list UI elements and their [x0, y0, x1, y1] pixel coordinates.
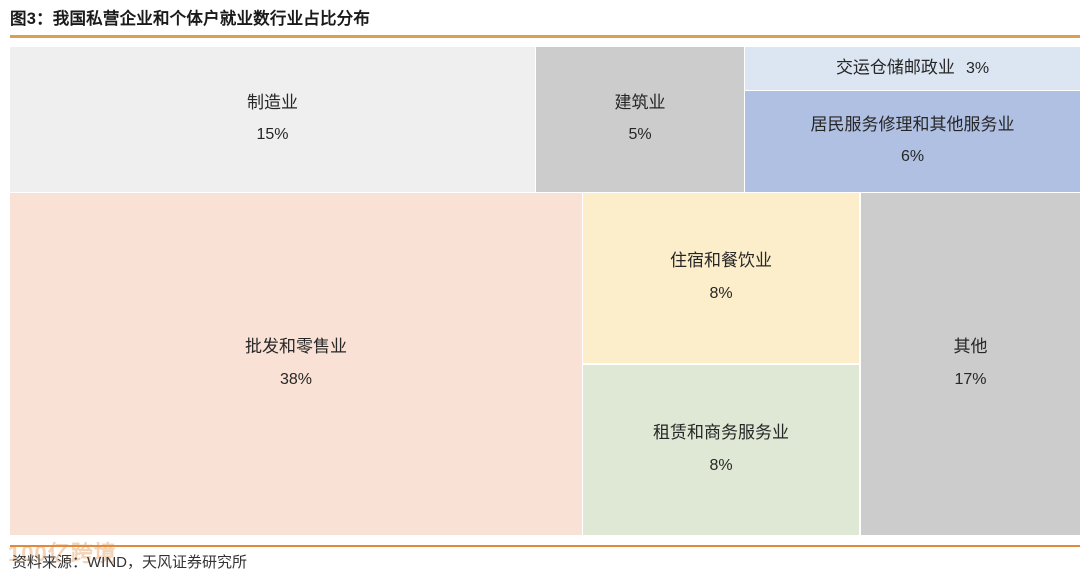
treemap-tile[interactable]: 交运仓储邮政业3% [745, 47, 1080, 90]
treemap-tile-value: 15% [256, 123, 288, 147]
treemap-tile-value: 6% [901, 145, 924, 169]
treemap-tile-label: 居民服务修理和其他服务业 [811, 114, 1015, 137]
page-title: 图3：我国私营企业和个体户就业数行业占比分布 [10, 5, 370, 29]
treemap-tile[interactable]: 建筑业5% [536, 47, 744, 192]
treemap-tile-label: 其他 [954, 336, 988, 359]
figure-title-bar: 图3：我国私营企业和个体户就业数行业占比分布 [0, 0, 1080, 34]
treemap-tile-value: 38% [280, 368, 312, 392]
treemap-tile-label: 租赁和商务服务业 [653, 422, 789, 445]
treemap-tile-label: 建筑业 [615, 92, 666, 115]
treemap-tile-value: 5% [628, 123, 651, 147]
treemap-tile-label: 制造业 [247, 92, 298, 115]
footer-divider [10, 545, 1080, 547]
source-note: 资料来源：WIND，天风证券研究所 [12, 551, 247, 572]
treemap-tile[interactable]: 批发和零售业38% [10, 193, 582, 535]
treemap-tile[interactable]: 制造业15% [10, 47, 535, 192]
treemap-tile-value: 3% [966, 57, 989, 81]
treemap-tile[interactable]: 居民服务修理和其他服务业6% [745, 91, 1080, 192]
treemap-tile-value: 8% [709, 282, 732, 306]
treemap-chart: 制造业15%建筑业5%交运仓储邮政业3%居民服务修理和其他服务业6%批发和零售业… [10, 47, 1080, 535]
treemap-tile[interactable]: 其他17% [861, 193, 1080, 535]
treemap-tile-value: 8% [709, 454, 732, 478]
treemap-tile-label: 住宿和餐饮业 [670, 250, 772, 273]
treemap-tile[interactable]: 住宿和餐饮业8% [583, 193, 859, 363]
treemap-tile-label: 批发和零售业 [245, 336, 347, 359]
treemap-tile[interactable]: 租赁和商务服务业8% [583, 365, 859, 535]
treemap-tile-value: 17% [954, 368, 986, 392]
title-divider [10, 35, 1080, 38]
treemap-tile-label: 交运仓储邮政业 [836, 57, 955, 80]
